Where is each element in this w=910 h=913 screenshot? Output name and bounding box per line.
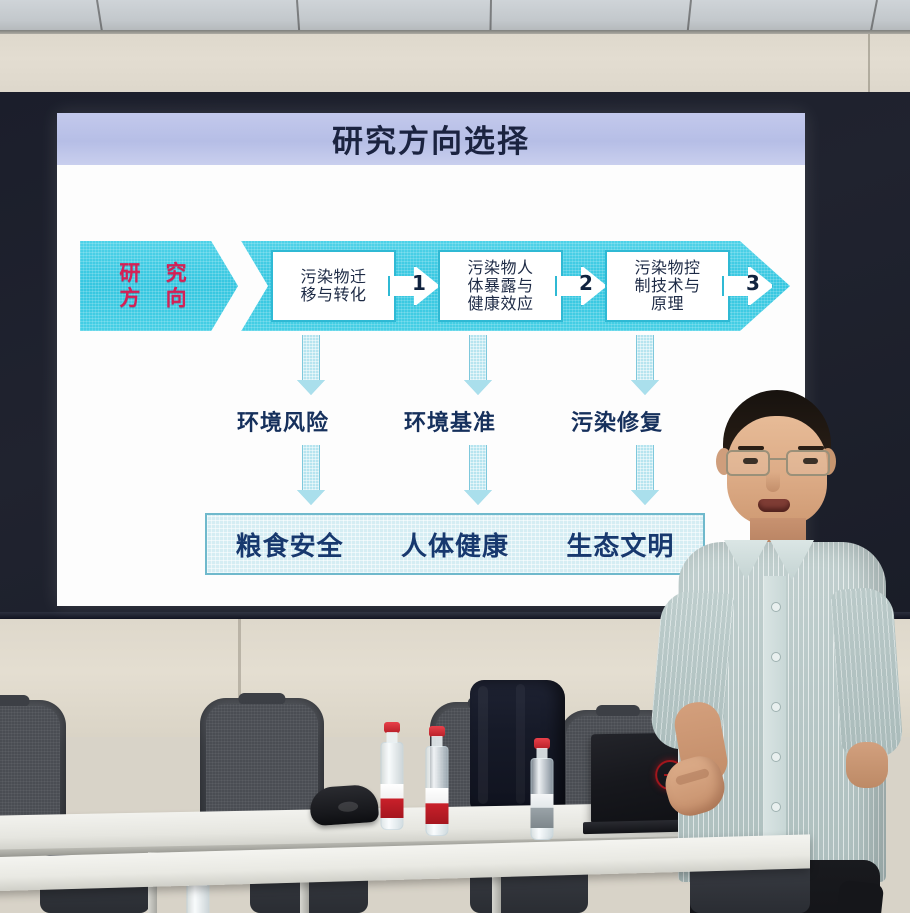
- outcome-item-1: 粮食安全: [236, 526, 344, 563]
- down-arrow-icon: [631, 445, 659, 505]
- ceiling: [0, 0, 910, 34]
- bottle-label: [381, 784, 404, 818]
- down-arrow-icon: [631, 335, 659, 395]
- flow-step-3-line-1: 污染物控: [634, 259, 700, 277]
- flow-step-2-line-1: 污染物人: [467, 259, 533, 277]
- outcome-box: 粮食安全 人体健康 生态文明: [205, 513, 705, 575]
- bottle-label: [426, 788, 449, 824]
- wall-seam-upper: [868, 34, 870, 96]
- flow-step-1-line-1: 污染物迁: [300, 268, 366, 286]
- office-chair: [0, 700, 66, 830]
- outcome-item-3: 生态文明: [566, 526, 674, 563]
- bottle-label: [531, 794, 554, 828]
- research-flow-diagram: 研 究 方 向 污染物迁 移与转化 污染物人 体暴露与 健康效应 污染物控 制技…: [80, 241, 790, 331]
- presenter-nose: [766, 472, 780, 492]
- shirt-button: [771, 602, 781, 612]
- flow-step-1-line-2: 移与转化: [300, 286, 366, 304]
- flow-step-box-1: 污染物迁 移与转化: [271, 250, 396, 322]
- flow-label-research-direction: 研 究 方 向: [94, 255, 212, 317]
- flow-step-number-2: 2: [579, 271, 593, 295]
- middle-label-1: 环境风险: [237, 405, 329, 437]
- flow-arrow-2-group: 2: [567, 241, 625, 331]
- flow-step-3-line-3: 原理: [651, 295, 684, 313]
- down-arrow-icon: [297, 335, 325, 395]
- presenter-pocket: [836, 880, 884, 913]
- flow-label-line-2: 方 向: [110, 288, 195, 309]
- black-cap: [309, 784, 379, 827]
- lecture-room-photo: 研究方向选择 研 究 方 向 污染物迁 移与转化 污染物人 体暴露与 健康效应 …: [0, 0, 910, 913]
- shirt-button: [771, 702, 781, 712]
- flow-label-line-1: 研 究: [110, 263, 195, 284]
- flow-arrow-3-group: 3: [734, 241, 792, 331]
- middle-label-3: 污染修复: [571, 405, 663, 437]
- wall-upper: [0, 34, 910, 96]
- flow-step-2-line-3: 健康效应: [467, 295, 533, 313]
- shirt-button: [771, 752, 781, 762]
- presenter-mouth: [758, 499, 790, 512]
- down-arrow-icon: [464, 335, 492, 395]
- flow-arrow-1-group: 1: [400, 241, 458, 331]
- flow-chevron-notch: [210, 239, 268, 333]
- flow-step-number-3: 3: [746, 271, 760, 295]
- bottle-neck: [387, 732, 398, 743]
- glasses-icon: [723, 450, 833, 474]
- flow-step-number-1: 1: [412, 271, 426, 295]
- shirt-button: [771, 652, 781, 662]
- bottle-neck: [432, 736, 443, 747]
- outcome-item-2: 人体健康: [401, 526, 509, 563]
- slide-title: 研究方向选择: [332, 116, 530, 161]
- slide-title-banner: 研究方向选择: [57, 113, 805, 165]
- flow-step-3-line-2: 制技术与: [634, 277, 700, 295]
- presenter-arm-left: [830, 586, 904, 760]
- presenter-shirt-placket: [764, 576, 786, 876]
- down-arrow-icon: [464, 445, 492, 505]
- presenter-hand-left: [846, 742, 888, 788]
- down-arrow-icon: [297, 445, 325, 505]
- bottle-neck: [537, 748, 548, 759]
- middle-label-2: 环境基准: [404, 405, 496, 437]
- flow-step-2-line-2: 体暴露与: [467, 277, 533, 295]
- shirt-button: [771, 802, 781, 812]
